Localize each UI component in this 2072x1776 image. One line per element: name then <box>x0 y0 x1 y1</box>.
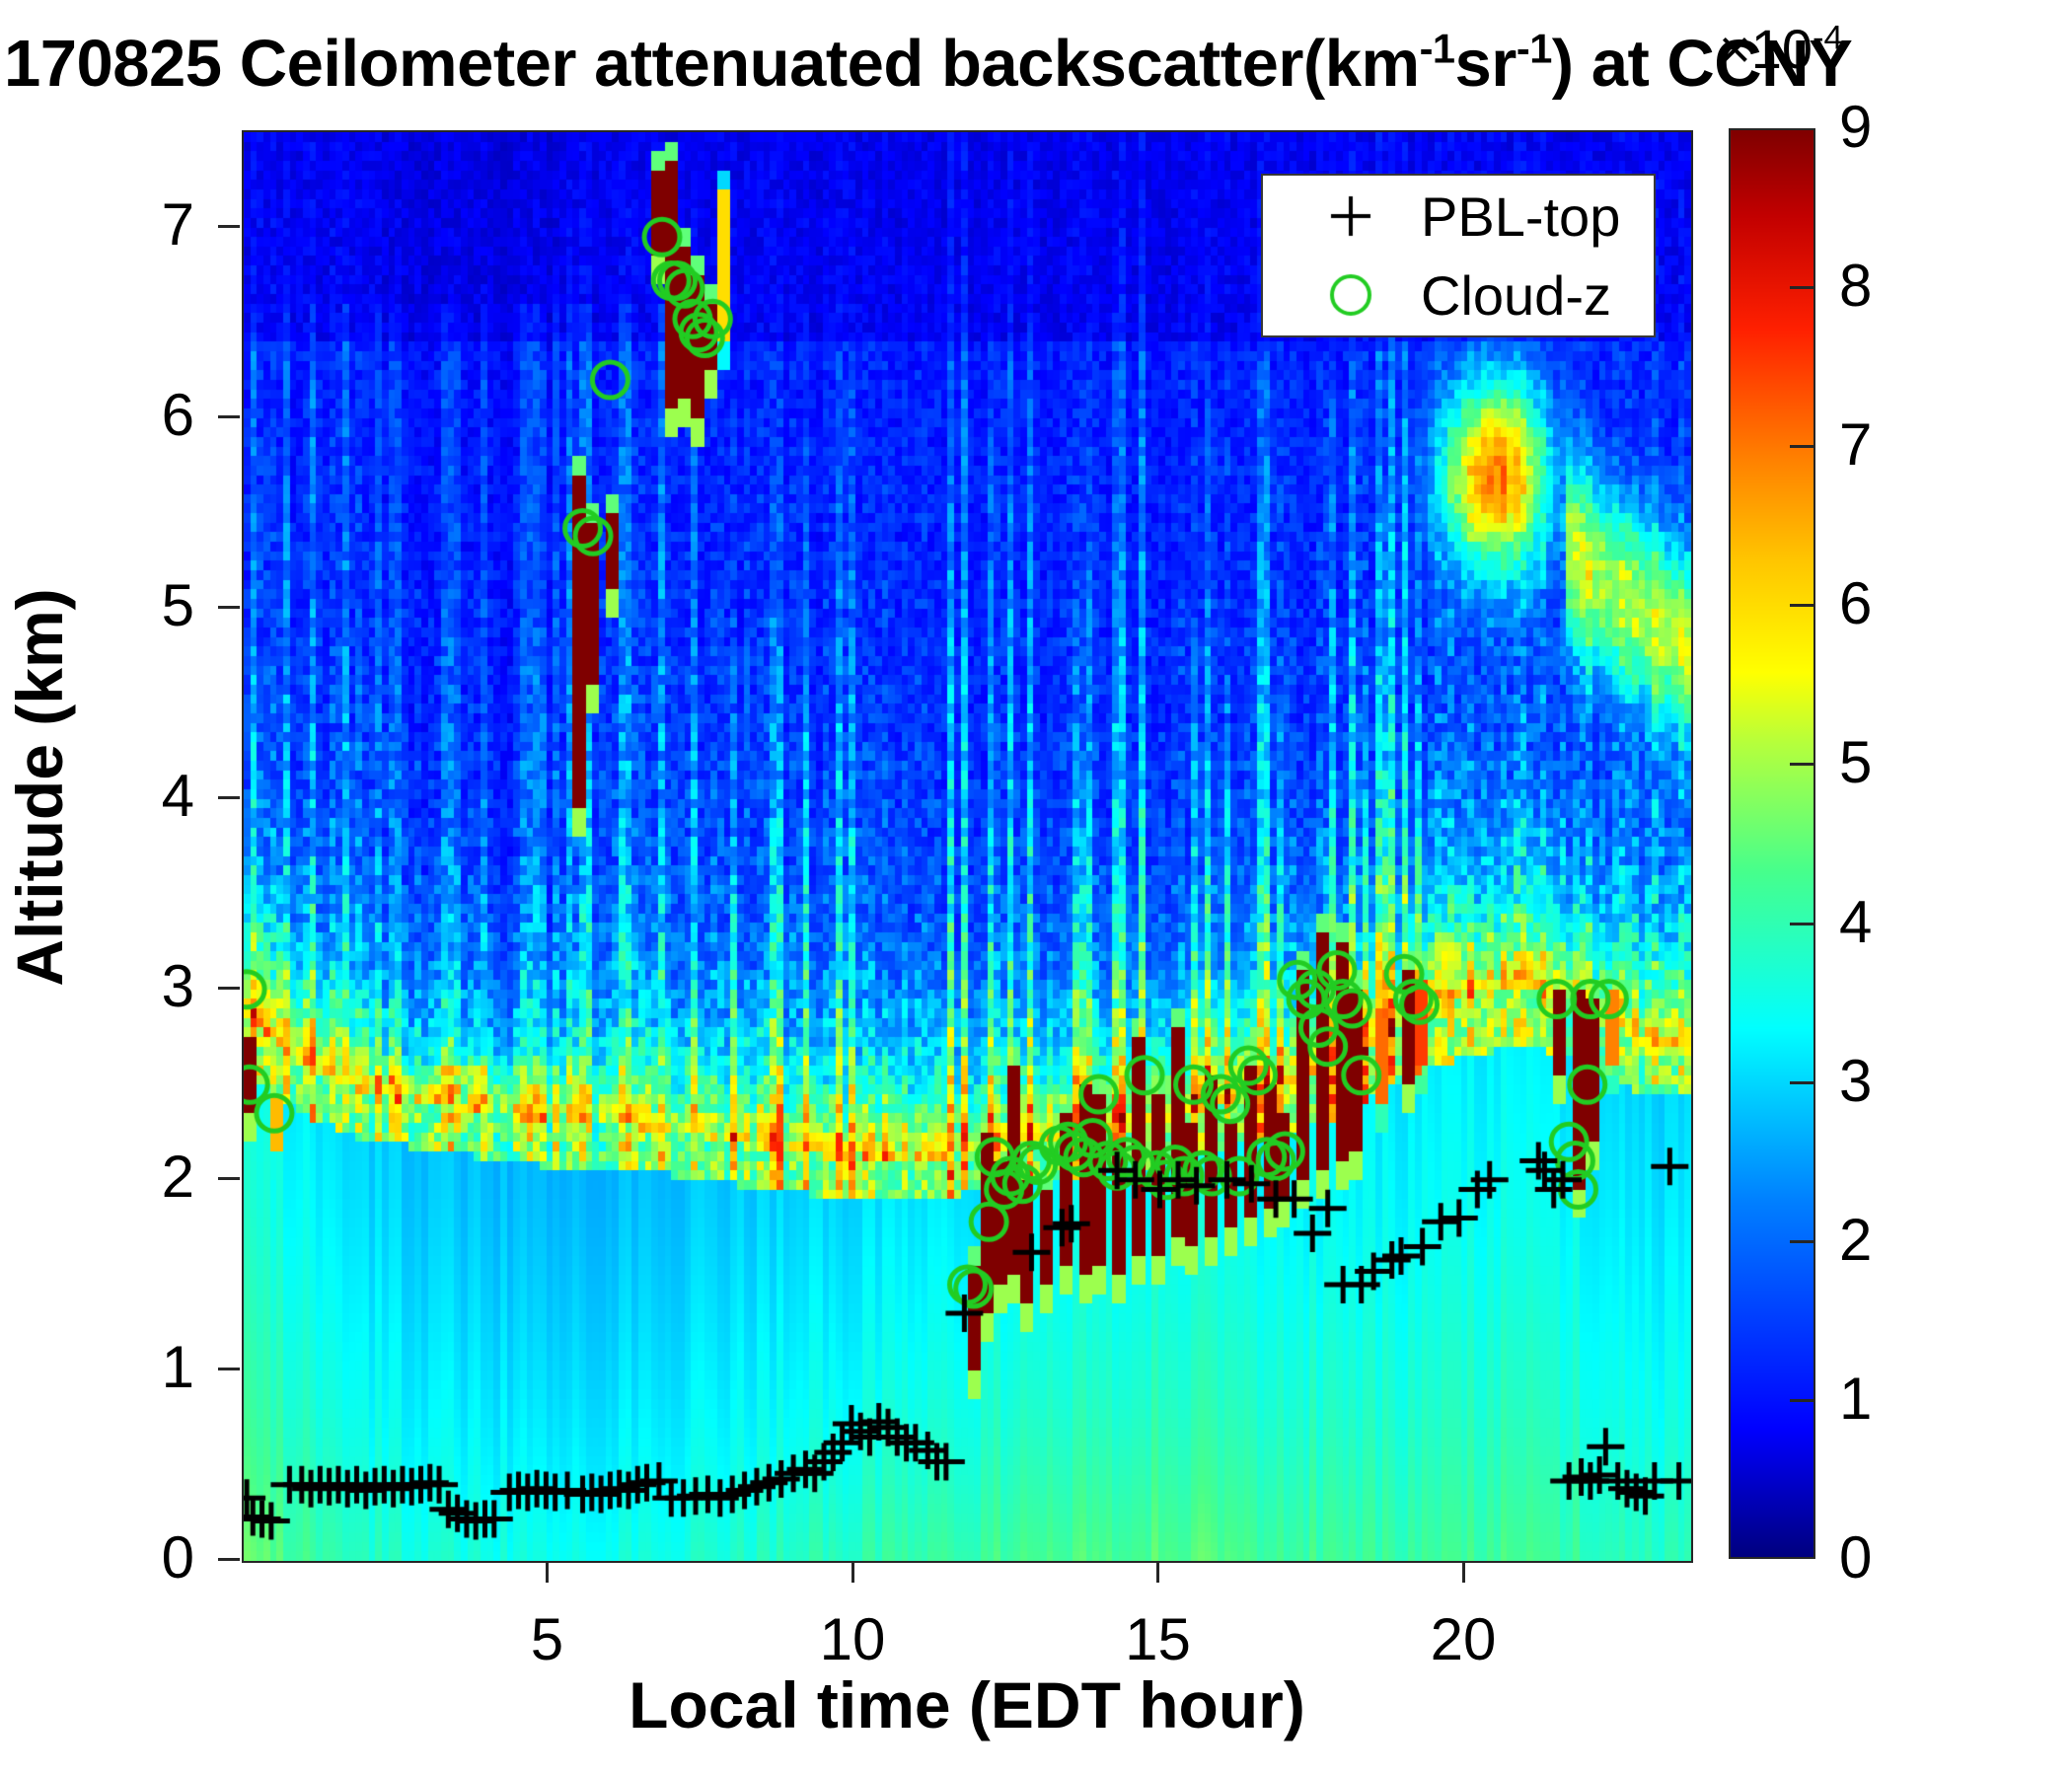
legend-label-cloud-z: Cloud-z <box>1421 259 1611 333</box>
colorbar-tick-label: 9 <box>1839 98 1872 157</box>
plus-marker-icon <box>1306 176 1395 258</box>
marker-overlay <box>244 132 1691 1561</box>
y-axis-tick-label: 6 <box>76 386 194 445</box>
colorbar-tick <box>1790 763 1813 766</box>
x-axis-tick-label: 5 <box>458 1610 635 1669</box>
colorbar[interactable] <box>1729 128 1815 1559</box>
colorbar-exponent-base: ×10 <box>1719 18 1813 80</box>
colorbar-tick-label: 1 <box>1839 1369 1872 1429</box>
colorbar-tick-label: 8 <box>1839 257 1872 316</box>
colorbar-tick-label: 3 <box>1839 1052 1872 1111</box>
y-axis-tick-label: 5 <box>76 576 194 635</box>
legend-entry-cloud-z[interactable]: Cloud-z <box>1263 255 1654 336</box>
y-axis-tick-label: 3 <box>76 957 194 1016</box>
colorbar-tick <box>1790 923 1813 925</box>
colorbar-exponent-power: -4 <box>1813 19 1843 56</box>
y-axis-tick <box>218 606 240 609</box>
y-axis-tick <box>218 1177 240 1180</box>
chart-title-sup-2: -1 <box>1517 26 1552 72</box>
colorbar-tick <box>1790 1240 1813 1243</box>
colorbar-tick-label: 2 <box>1839 1211 1872 1270</box>
x-axis-tick-label: 20 <box>1374 1610 1552 1669</box>
chart-title-sup-1: -1 <box>1420 26 1455 72</box>
x-axis-tick <box>546 1561 549 1583</box>
x-axis-label: Local time (EDT hour) <box>464 1667 1470 1742</box>
chart-title-mid: sr <box>1455 27 1517 101</box>
y-axis-tick-label: 2 <box>76 1147 194 1207</box>
legend-entry-pbl-top[interactable]: PBL-top <box>1263 176 1654 258</box>
legend-label-pbl-top: PBL-top <box>1421 180 1620 255</box>
y-axis-tick <box>218 1368 240 1370</box>
y-axis-tick-label: 7 <box>76 195 194 255</box>
colorbar-tick <box>1790 1399 1813 1402</box>
x-axis-tick-label: 15 <box>1069 1610 1246 1669</box>
colorbar-tick <box>1790 286 1813 289</box>
x-axis-tick-label: 10 <box>764 1610 941 1669</box>
y-axis-tick <box>218 415 240 418</box>
chart-title-pre: 170825 Ceilometer attenuated backscatter… <box>4 27 1420 101</box>
colorbar-tick <box>1790 604 1813 607</box>
y-axis-tick <box>218 987 240 990</box>
heatmap-plot-area[interactable] <box>242 130 1693 1563</box>
colorbar-tick-label: 7 <box>1839 415 1872 475</box>
colorbar-tick-label: 6 <box>1839 574 1872 633</box>
y-axis-tick-label: 1 <box>76 1338 194 1397</box>
colorbar-tick <box>1790 1081 1813 1084</box>
circle-marker-icon <box>1306 255 1395 336</box>
x-axis-tick <box>1156 1561 1159 1583</box>
y-axis-tick <box>218 796 240 799</box>
y-axis-tick-label: 4 <box>76 767 194 826</box>
y-axis-label: Altitude (km) <box>2 195 77 1379</box>
colorbar-exponent-label: ×10-4 <box>1719 22 1843 77</box>
x-axis-tick <box>1462 1561 1465 1583</box>
chart-legend[interactable]: PBL-top Cloud-z <box>1261 174 1656 337</box>
colorbar-tick <box>1790 445 1813 448</box>
colorbar-tick-label: 5 <box>1839 733 1872 792</box>
figure-canvas: 170825 Ceilometer attenuated backscatter… <box>0 0 2072 1776</box>
y-axis-tick <box>218 225 240 228</box>
colorbar-tick-label: 4 <box>1839 893 1872 952</box>
x-axis-tick <box>851 1561 854 1583</box>
y-axis-tick-label: 0 <box>76 1528 194 1588</box>
y-axis-tick <box>218 1558 240 1561</box>
colorbar-tick-label: 0 <box>1839 1528 1872 1588</box>
